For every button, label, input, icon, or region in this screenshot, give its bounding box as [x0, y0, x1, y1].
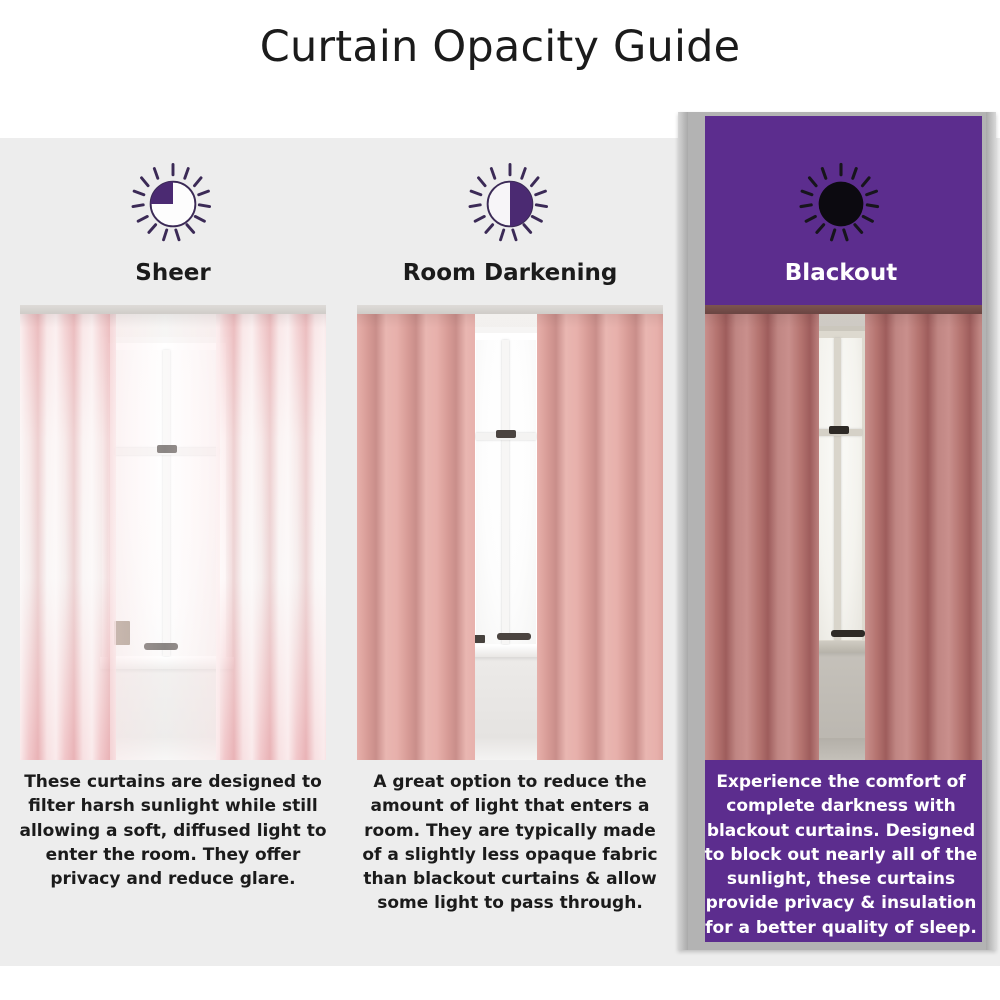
blackout-curtains-photo: [705, 305, 982, 760]
sun-quarter-filled-icon: [8, 146, 338, 261]
caption-sheer: These curtains are designed to filter ha…: [18, 770, 328, 891]
opacity-column-blackout[interactable]: Blackout Experience the comfort of: [686, 138, 996, 1000]
caption-blackout: Experience the comfort of complete darkn…: [696, 770, 986, 940]
category-label-room-darkening: Room Darkening: [345, 260, 675, 286]
sun-half-filled-icon: [345, 146, 675, 261]
opacity-column-sheer[interactable]: Sheer: [8, 138, 338, 1000]
sun-full-filled-icon: [686, 146, 996, 261]
category-label-blackout: Blackout: [686, 260, 996, 286]
sheer-curtains-photo: [20, 305, 326, 760]
room-darkening-curtains-photo: [357, 305, 663, 760]
opacity-column-room-darkening[interactable]: Room Darkening A great option to r: [345, 138, 675, 1000]
opacity-columns: Sheer: [0, 138, 1000, 1000]
caption-room-darkening: A great option to reduce the amount of l…: [355, 770, 665, 916]
category-label-sheer: Sheer: [8, 260, 338, 286]
page-title: Curtain Opacity Guide: [0, 22, 1000, 72]
